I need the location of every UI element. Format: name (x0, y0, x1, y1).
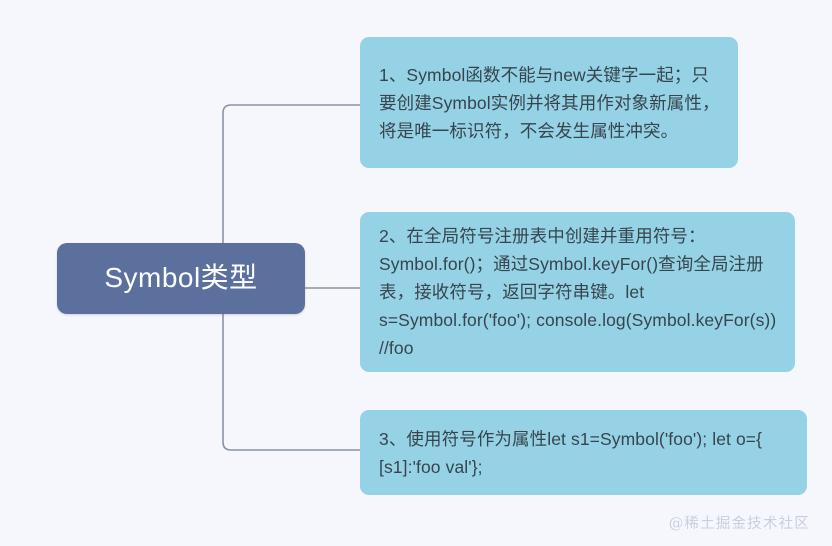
mindmap-branch-label-3: 3、使用符号作为属性let s1=Symbol('foo'); let o={ … (379, 425, 793, 481)
mindmap-root-node[interactable]: Symbol类型 (57, 243, 305, 314)
mindmap-branch-node-1[interactable]: 1、Symbol函数不能与new关键字一起；只要创建Symbol实例并将其用作对… (360, 37, 738, 168)
mindmap-branch-node-2[interactable]: 2、在全局符号注册表中创建并重用符号：Symbol.for()；通过Symbol… (360, 212, 795, 372)
mindmap-branch-label-1: 1、Symbol函数不能与new关键字一起；只要创建Symbol实例并将其用作对… (379, 61, 720, 145)
mindmap-canvas: Symbol类型 1、Symbol函数不能与new关键字一起；只要创建Symbo… (0, 0, 832, 546)
mindmap-root-label: Symbol类型 (104, 263, 257, 294)
mindmap-branch-label-2: 2、在全局符号注册表中创建并重用符号：Symbol.for()；通过Symbol… (379, 222, 781, 362)
mindmap-branch-node-3[interactable]: 3、使用符号作为属性let s1=Symbol('foo'); let o={ … (360, 410, 807, 495)
watermark: @稀土掘金技术社区 (669, 512, 810, 533)
